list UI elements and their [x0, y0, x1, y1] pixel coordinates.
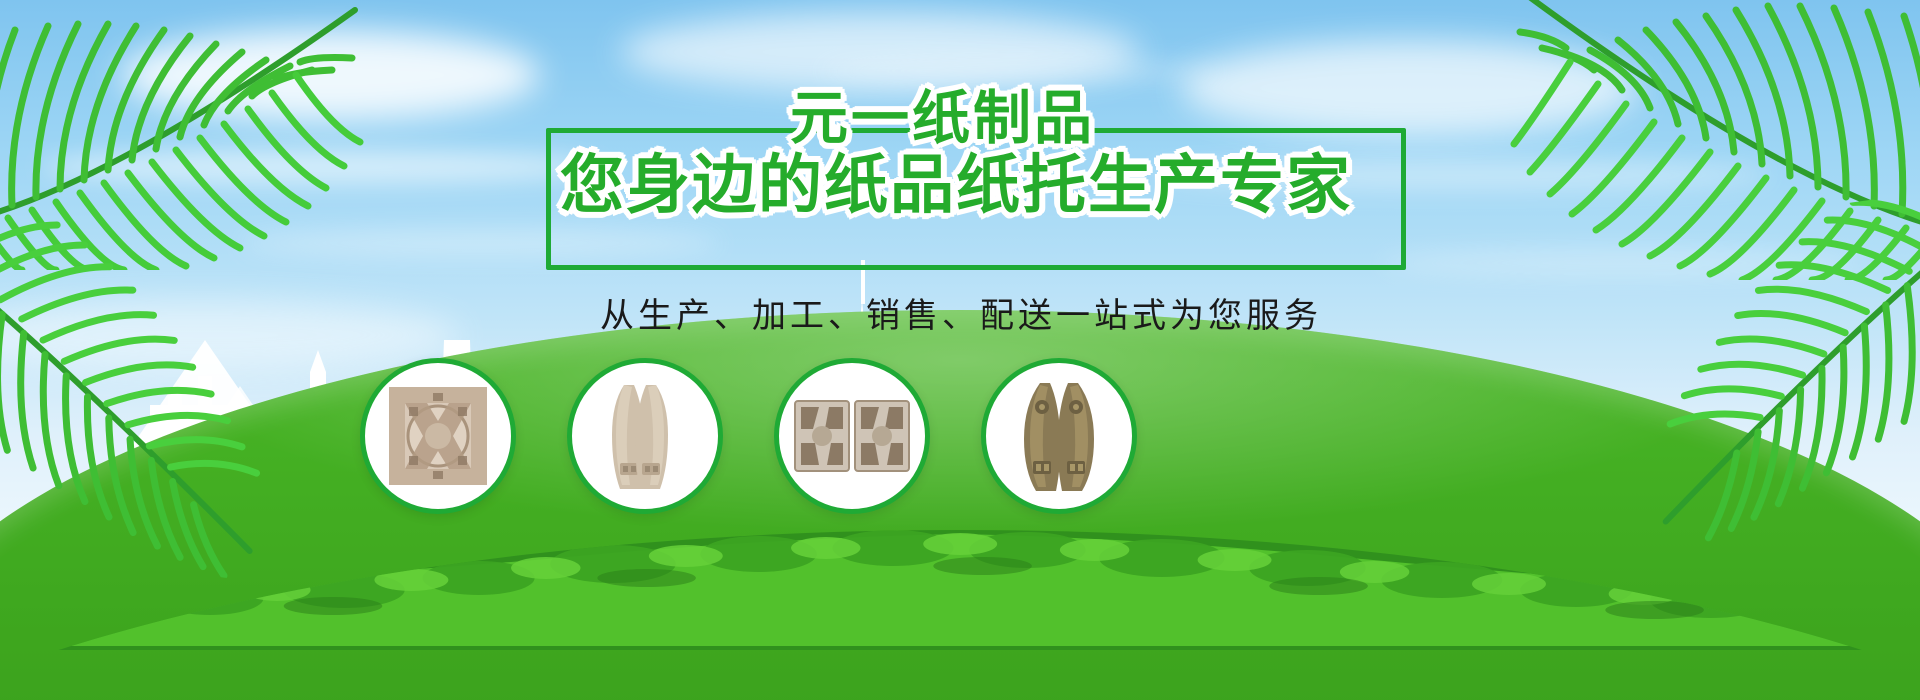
product-circle-dark-pulp-shoe-pair[interactable] [981, 358, 1137, 514]
pulp-shoe-tree-pair-icon [572, 363, 718, 509]
promo-banner: 元一纸制品 您身边的纸品纸托生产专家 从生产、加工、销售、配送一站式为您服务 [0, 0, 1920, 700]
headline-line-2: 您身边的纸品纸托生产专家 [560, 150, 1352, 220]
banner-subtitle: 从生产、加工、销售、配送一站式为您服务 [600, 288, 1322, 337]
product-circle-pulp-corner-pads[interactable] [774, 358, 930, 514]
product-circle-square-pulp-tray[interactable] [360, 358, 516, 514]
dark-pulp-shoe-pair-icon [986, 363, 1132, 509]
product-circle-pulp-shoe-tree-pair[interactable] [567, 358, 723, 514]
headline-line-1: 元一纸制品 [790, 88, 1095, 150]
pulp-corner-pads-icon [779, 363, 925, 509]
headline-block: 元一纸制品 您身边的纸品纸托生产专家 从生产、加工、销售、配送一站式为您服务 [0, 0, 1920, 700]
square-pulp-tray-icon [365, 363, 511, 509]
